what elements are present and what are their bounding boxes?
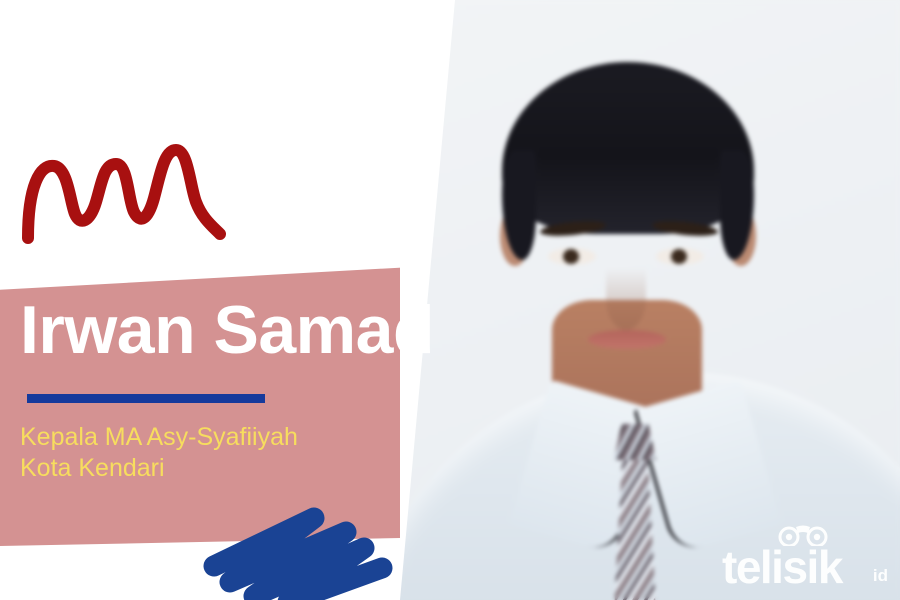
mouth	[588, 330, 666, 349]
subject-name: Irwan Samad	[20, 296, 434, 364]
portrait-card: Irwan Samad Kepala MA Asy-Syafiiyah Kota…	[0, 0, 900, 600]
blue-zigzag-squiggle	[196, 498, 396, 600]
iris-right	[671, 249, 687, 264]
subject-title: Kepala MA Asy-Syafiiyah Kota Kendari	[20, 422, 298, 483]
red-wave-squiggle	[18, 128, 233, 248]
telisik-wordmark: telisik	[722, 544, 842, 590]
telisik-tld: id	[873, 567, 888, 584]
portrait-photo	[400, 0, 900, 600]
eye-right	[656, 248, 704, 265]
accent-rule	[27, 394, 265, 403]
telisik-watermark: telisik id	[722, 524, 890, 590]
eye-left	[548, 248, 596, 265]
nose	[606, 268, 646, 330]
iris-left	[563, 249, 579, 264]
